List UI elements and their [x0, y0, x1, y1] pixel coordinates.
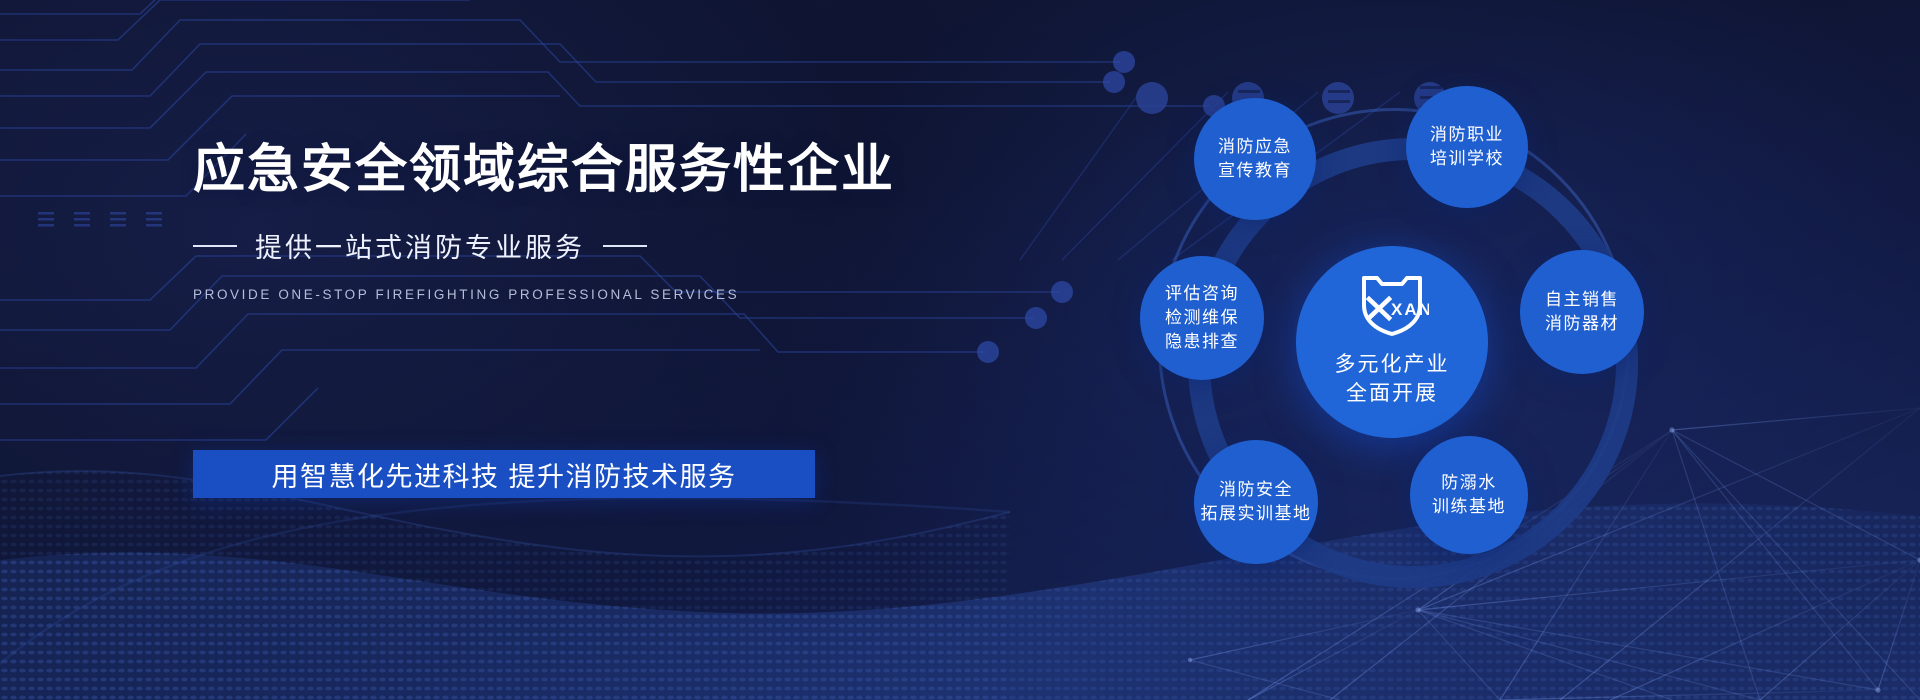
cta-label: 用智慧化先进科技 提升消防技术服务 [271, 455, 736, 494]
hero-subtitle-text: 提供一站式消防专业服务 [255, 226, 585, 265]
node-2-line1: 消防职业 [1430, 123, 1504, 147]
services-orbit-diagram: XAN 多元化产业 全面开展 评估咨询 检测维保 隐患排查 消防应急 宣传教育 … [1110, 60, 1710, 620]
diagram-center-node[interactable]: XAN 多元化产业 全面开展 [1296, 246, 1488, 438]
service-node-equipment-sales[interactable]: 自主销售 消防器材 [1520, 250, 1644, 374]
node-0-line1: 评估咨询 [1165, 282, 1239, 306]
node-5-line2: 拓展实训基地 [1201, 502, 1312, 526]
node-2-line2: 培训学校 [1430, 147, 1504, 171]
node-4-line2: 训练基地 [1432, 495, 1506, 519]
circuit-dash-marks [38, 212, 162, 227]
sweep-arc [0, 498, 1010, 700]
node-1-line1: 消防应急 [1218, 135, 1292, 159]
node-0-line2: 检测维保 [1165, 306, 1239, 330]
service-node-training-school[interactable]: 消防职业 培训学校 [1406, 86, 1528, 208]
cta-banner-button[interactable]: 用智慧化先进科技 提升消防技术服务 [193, 450, 815, 498]
service-node-assessment[interactable]: 评估咨询 检测维保 隐患排查 [1140, 256, 1264, 380]
node-5-line1: 消防安全 [1219, 478, 1293, 502]
center-node-line1: 多元化产业 [1335, 350, 1450, 380]
hero-banner: 应急安全领域综合服务性企业 提供一站式消防专业服务 PROVIDE ONE-ST… [0, 0, 1920, 700]
xan-shield-logo-icon: XAN [1355, 275, 1429, 346]
center-node-line2: 全面开展 [1346, 379, 1438, 409]
service-node-training-base[interactable]: 消防安全 拓展实训基地 [1194, 440, 1318, 564]
service-node-anti-drowning[interactable]: 防溺水 训练基地 [1410, 436, 1528, 554]
node-3-line2: 消防器材 [1545, 312, 1619, 336]
node-3-line1: 自主销售 [1545, 288, 1619, 312]
xan-logo-text: XAN [1391, 300, 1429, 319]
node-0-line3: 隐患排查 [1165, 330, 1239, 354]
service-node-emergency-education[interactable]: 消防应急 宣传教育 [1194, 98, 1316, 220]
hero-eyebrow-english: PROVIDE ONE-STOP FIREFIGHTING PROFESSION… [193, 287, 953, 302]
page-title: 应急安全领域综合服务性企业 [193, 140, 953, 200]
node-4-line1: 防溺水 [1441, 471, 1497, 495]
hero-subtitle: 提供一站式消防专业服务 [193, 226, 953, 265]
dash-left-icon [193, 245, 237, 247]
node-1-line2: 宣传教育 [1218, 159, 1292, 183]
hero-copy: 应急安全领域综合服务性企业 提供一站式消防专业服务 PROVIDE ONE-ST… [193, 140, 953, 302]
dash-right-icon [603, 245, 647, 247]
